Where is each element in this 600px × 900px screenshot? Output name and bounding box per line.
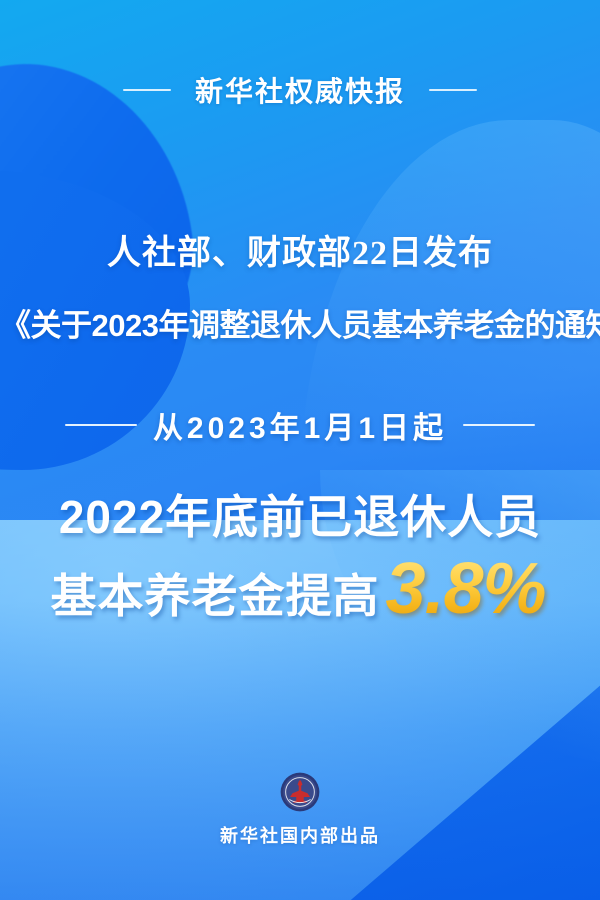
- date-rule-right-icon: [463, 424, 535, 426]
- header-banner: 新华社权威快报: [0, 70, 600, 110]
- headline-line-1: 2022年底前已退休人员: [0, 481, 600, 547]
- headline-line-2-row: 基本养老金提高 3.8%: [0, 559, 600, 627]
- document-title: 《关于2023年调整退休人员基本养老金的通知》: [0, 300, 600, 345]
- header-rule-left-icon: [123, 89, 171, 91]
- headline-line-2-prefix: 基本养老金提高: [50, 560, 379, 626]
- bottom-gradient-overlay: [0, 600, 600, 900]
- date-rule-left-icon: [65, 424, 137, 426]
- main-content: 人社部、财政部22日发布 《关于2023年调整退休人员基本养老金的通知》 从20…: [0, 225, 600, 627]
- issue-line: 人社部、财政部22日发布: [0, 225, 600, 274]
- footer-credit: 新华社国内部出品: [0, 822, 600, 848]
- header-rule-right-icon: [429, 89, 477, 91]
- poster-root: 新华社权威快报 人社部、财政部22日发布 《关于2023年调整退休人员基本养老金…: [0, 0, 600, 900]
- effective-date: 从2023年1月1日起: [153, 403, 447, 447]
- footer: 新华社国内部出品: [0, 772, 600, 848]
- effective-date-row: 从2023年1月1日起: [0, 403, 600, 447]
- header-title: 新华社权威快报: [195, 70, 405, 110]
- percent-value: 3.8%: [385, 555, 549, 623]
- xinhua-logo-icon: [280, 772, 320, 812]
